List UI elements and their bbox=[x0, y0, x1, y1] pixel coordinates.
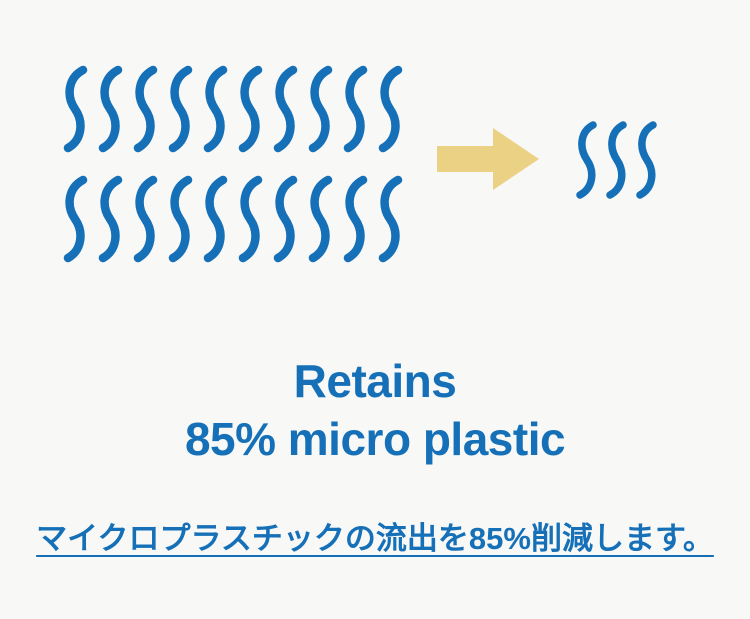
squiggle-icon bbox=[233, 172, 268, 266]
before-squiggle-group bbox=[58, 62, 408, 270]
after-squiggle-group bbox=[572, 118, 668, 206]
squiggle-icon bbox=[303, 172, 338, 266]
headline-line-1: Retains bbox=[0, 352, 750, 410]
squiggle-icon bbox=[268, 62, 303, 156]
squiggle-icon bbox=[303, 62, 338, 156]
squiggle-icon bbox=[163, 62, 198, 156]
headline: Retains 85% micro plastic bbox=[0, 352, 750, 468]
squiggle-row bbox=[58, 62, 408, 158]
squiggle-icon bbox=[93, 62, 128, 156]
squiggle-icon bbox=[128, 62, 163, 156]
squiggle-icon bbox=[632, 118, 662, 202]
squiggle-icon bbox=[338, 62, 373, 156]
squiggle-icon bbox=[128, 172, 163, 266]
squiggle-icon bbox=[233, 62, 268, 156]
right-arrow-icon bbox=[437, 128, 539, 190]
squiggle-icon bbox=[198, 172, 233, 266]
subline-japanese: マイクロプラスチックの流出を85%削減します。 bbox=[0, 518, 750, 560]
squiggle-icon bbox=[338, 172, 373, 266]
squiggle-icon bbox=[268, 172, 303, 266]
squiggle-icon bbox=[163, 172, 198, 266]
squiggle-icon bbox=[602, 118, 632, 202]
squiggle-row bbox=[58, 172, 408, 268]
squiggle-icon bbox=[58, 172, 93, 266]
squiggle-icon bbox=[58, 62, 93, 156]
squiggle-icon bbox=[373, 172, 408, 266]
squiggle-icon bbox=[572, 118, 602, 202]
arrow-shape bbox=[437, 128, 539, 190]
infographic-canvas: Retains 85% micro plastic マイクロプラスチックの流出を… bbox=[0, 0, 750, 619]
headline-line-2: 85% micro plastic bbox=[0, 410, 750, 468]
squiggle-icon bbox=[93, 172, 128, 266]
illustration-area bbox=[0, 0, 750, 300]
squiggle-icon bbox=[373, 62, 408, 156]
squiggle-icon bbox=[198, 62, 233, 156]
